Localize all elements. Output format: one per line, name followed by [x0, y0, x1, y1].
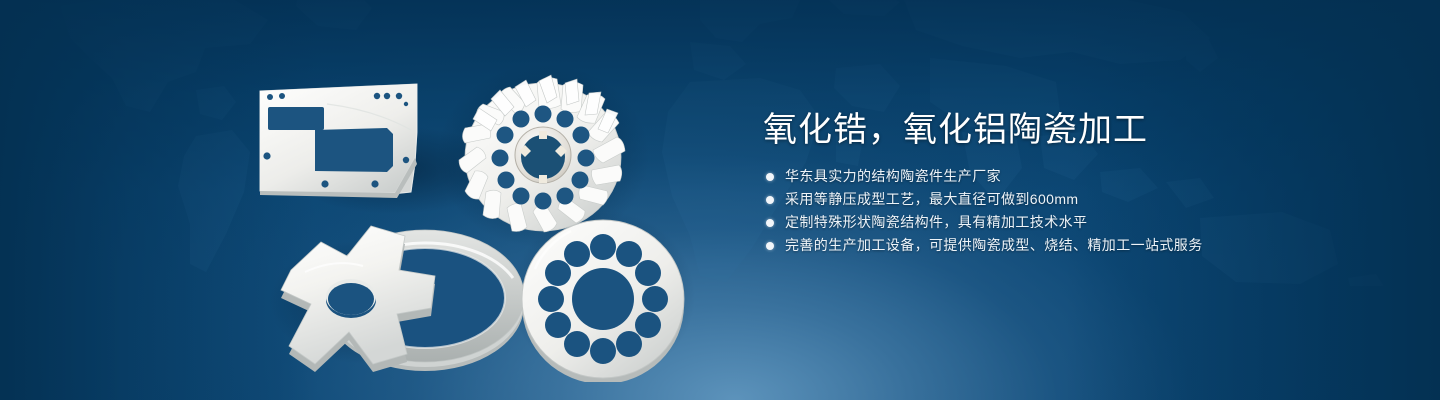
list-item: 华东具实力的结构陶瓷件生产厂家 [763, 168, 1383, 185]
list-item: 定制特殊形状陶瓷结构件，具有精加工技术水平 [763, 214, 1383, 231]
product-photo-collage [235, 34, 705, 382]
hero-banner: 氧化锆，氧化铝陶瓷加工 华东具实力的结构陶瓷件生产厂家 采用等静压成型工艺，最大… [0, 0, 1440, 400]
bullet-dot-icon [766, 242, 774, 250]
feature-text: 采用等静压成型工艺，最大直径可做到600mm [785, 191, 1078, 207]
feature-text: 定制特殊形状陶瓷结构件，具有精加工技术水平 [785, 214, 1087, 230]
bullet-dot-icon [766, 196, 774, 204]
banner-copy: 氧化锆，氧化铝陶瓷加工 华东具实力的结构陶瓷件生产厂家 采用等静压成型工艺，最大… [763, 108, 1383, 260]
list-item: 完善的生产加工设备，可提供陶瓷成型、烧结、精加工一站式服务 [763, 237, 1383, 254]
ceramic-machined-plate [260, 84, 417, 198]
feature-text: 华东具实力的结构陶瓷件生产厂家 [785, 168, 1001, 184]
feature-list: 华东具实力的结构陶瓷件生产厂家 采用等静压成型工艺，最大直径可做到600mm 定… [763, 168, 1383, 254]
bullet-dot-icon [766, 173, 774, 181]
bullet-dot-icon [766, 219, 774, 227]
banner-headline: 氧化锆，氧化铝陶瓷加工 [763, 108, 1383, 152]
ceramic-perforated-disc [522, 220, 684, 382]
list-item: 采用等静压成型工艺，最大直径可做到600mm [763, 191, 1383, 208]
feature-text: 完善的生产加工设备，可提供陶瓷成型、烧结、精加工一站式服务 [785, 237, 1203, 253]
